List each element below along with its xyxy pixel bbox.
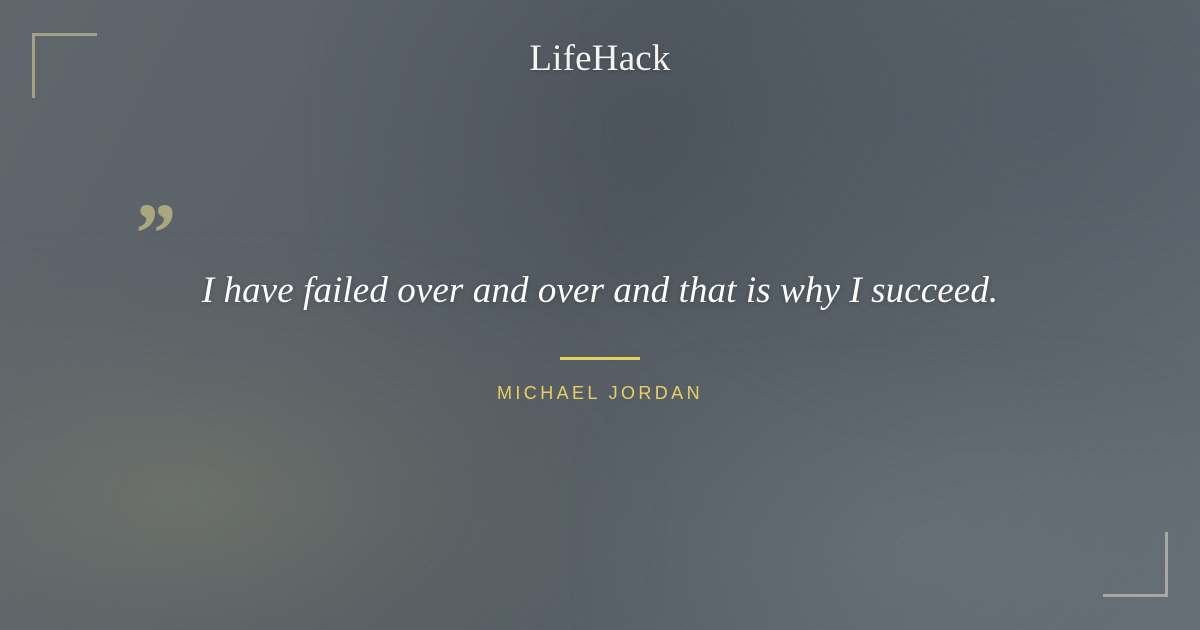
quote-block: ” I have failed over and over and that i… xyxy=(0,190,1200,404)
quote-card: LifeHack ” I have failed over and over a… xyxy=(0,0,1200,630)
brand-logo: LifeHack xyxy=(0,40,1200,77)
quote-author: MICHAEL JORDAN xyxy=(0,383,1200,404)
corner-bracket-bottom-right-icon xyxy=(1103,532,1168,597)
divider-rule xyxy=(560,357,640,360)
quote-text: I have failed over and over and that is … xyxy=(0,190,1200,314)
quotation-mark-icon: ” xyxy=(131,190,174,276)
